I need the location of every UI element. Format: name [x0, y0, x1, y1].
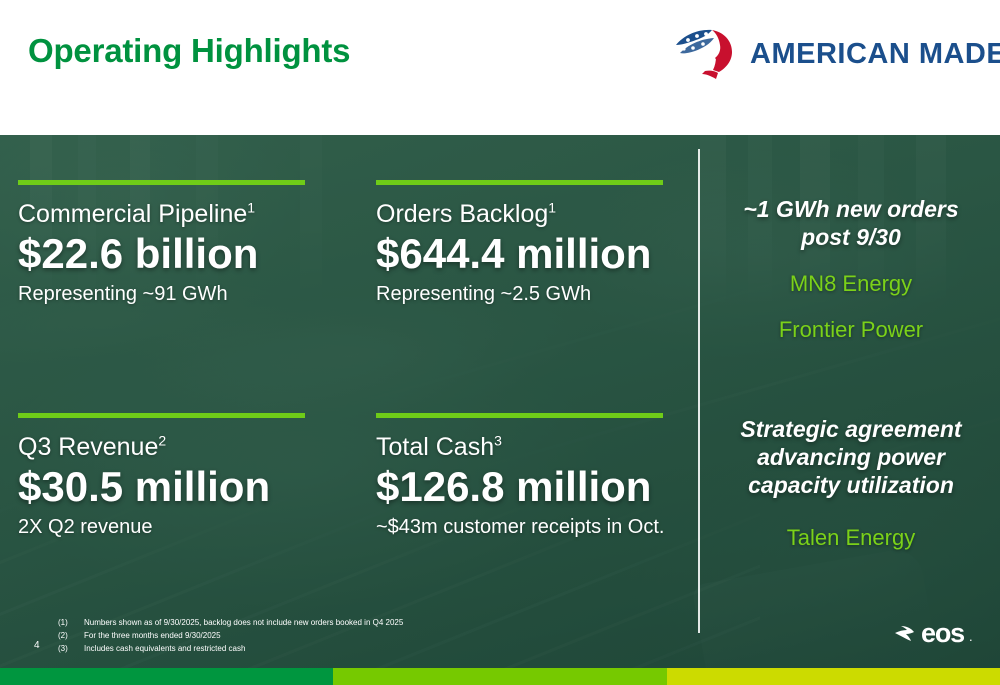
footnote-marker: 3 [494, 433, 502, 449]
customer-frontier-power: Frontier Power [712, 317, 990, 343]
strategic-heading-line-3: capacity utilization [712, 471, 990, 499]
strategic-agreement-block: Strategic agreement advancing power capa… [712, 415, 990, 551]
metric-label: Commercial Pipeline1 [18, 201, 305, 227]
accent-bar [376, 413, 663, 418]
footnote-row: (2) For the three months ended 9/30/2025 [58, 630, 403, 643]
eos-wordmark: eos [921, 620, 964, 647]
slide-root: Operating Highlights [0, 0, 1000, 685]
bottom-bar-segment-2 [333, 668, 667, 685]
footnote-text: Numbers shown as of 9/30/2025, backlog d… [84, 617, 403, 630]
eos-wing-icon [894, 624, 916, 644]
metric-label-text: Orders Backlog [376, 200, 548, 228]
metric-orders-backlog: Orders Backlog1 $644.4 million Represent… [376, 180, 663, 305]
american-flag-profile-icon [672, 27, 738, 81]
metric-label-text: Commercial Pipeline [18, 200, 247, 228]
new-orders-heading: ~1 GWh new orders post 9/30 [712, 195, 990, 251]
metric-commercial-pipeline: Commercial Pipeline1 $22.6 billion Repre… [18, 180, 305, 305]
strategic-agreement-heading: Strategic agreement advancing power capa… [712, 415, 990, 499]
american-made-logo: AMERICAN MADE [672, 26, 982, 82]
highlights-sidebar: ~1 GWh new orders post 9/30 MN8 Energy F… [712, 195, 990, 551]
footnote-row: (1) Numbers shown as of 9/30/2025, backl… [58, 617, 403, 630]
metric-subtext: ~$43m customer receipts in Oct. [376, 516, 663, 538]
footnote-number: (3) [58, 643, 84, 656]
metric-label-text: Q3 Revenue [18, 433, 158, 461]
footnote-row: (3) Includes cash equivalents and restri… [58, 643, 403, 656]
accent-bar [18, 413, 305, 418]
footnotes: (1) Numbers shown as of 9/30/2025, backl… [58, 617, 403, 656]
strategic-heading-line-2: advancing power [712, 443, 990, 471]
slide-number: 4 [34, 640, 40, 651]
bottom-bar-segment-1 [0, 668, 333, 685]
customer-talen-energy: Talen Energy [712, 525, 990, 551]
metric-label-text: Total Cash [376, 433, 494, 461]
metric-subtext: 2X Q2 revenue [18, 516, 305, 538]
accent-bar [376, 180, 663, 185]
metric-label: Total Cash3 [376, 434, 663, 460]
american-made-wordmark: AMERICAN MADE [750, 38, 1000, 71]
column-divider [698, 149, 700, 633]
strategic-heading-line-1: Strategic agreement [712, 415, 990, 443]
eos-logo: eos . [894, 620, 973, 647]
highlights-panel: Commercial Pipeline1 $22.6 billion Repre… [0, 135, 1000, 668]
slide-header: Operating Highlights [0, 0, 1000, 135]
footnote-marker: 1 [247, 200, 255, 216]
accent-bar [18, 180, 305, 185]
new-orders-block: ~1 GWh new orders post 9/30 MN8 Energy F… [712, 195, 990, 343]
footnote-number: (1) [58, 617, 84, 630]
page-title: Operating Highlights [28, 32, 350, 70]
metric-value: $30.5 million [18, 464, 305, 509]
new-orders-heading-line-2: post 9/30 [712, 223, 990, 251]
footnote-text: For the three months ended 9/30/2025 [84, 630, 221, 643]
metric-q3-revenue: Q3 Revenue2 $30.5 million 2X Q2 revenue [18, 413, 305, 538]
eos-trademark: . [969, 629, 973, 647]
customer-mn8-energy: MN8 Energy [712, 271, 990, 297]
bottom-bar-segment-3 [667, 668, 1000, 685]
footnote-text: Includes cash equivalents and restricted… [84, 643, 245, 656]
footnote-marker: 1 [548, 200, 556, 216]
metric-subtext: Representing ~91 GWh [18, 283, 305, 305]
metric-label: Q3 Revenue2 [18, 434, 305, 460]
metric-value: $644.4 million [376, 231, 663, 276]
metric-label: Orders Backlog1 [376, 201, 663, 227]
metric-value: $22.6 billion [18, 231, 305, 276]
footnote-marker: 2 [158, 433, 166, 449]
metric-subtext: Representing ~2.5 GWh [376, 283, 663, 305]
bottom-color-bar [0, 668, 1000, 685]
footnote-number: (2) [58, 630, 84, 643]
new-orders-heading-line-1: ~1 GWh new orders [712, 195, 990, 223]
metric-total-cash: Total Cash3 $126.8 million ~$43m custome… [376, 413, 663, 538]
metric-value: $126.8 million [376, 464, 663, 509]
